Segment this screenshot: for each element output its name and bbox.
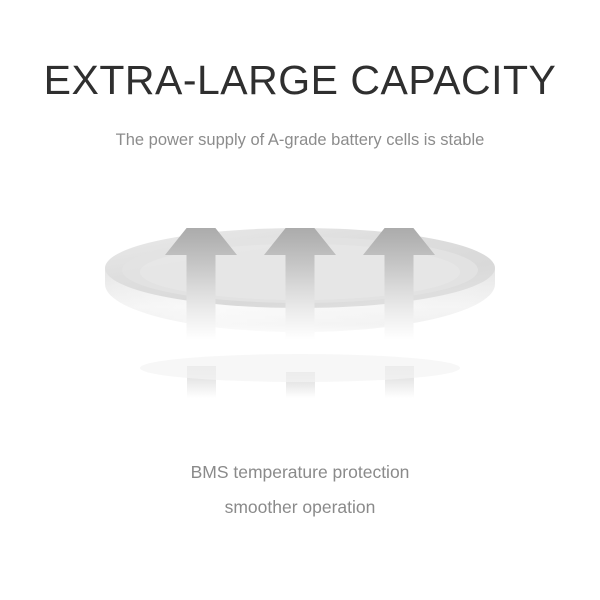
disc-shadow (140, 354, 460, 382)
footer-caption-line-2: smoother operation (0, 490, 600, 525)
page-title: EXTRA-LARGE CAPACITY (0, 58, 600, 103)
page-subtitle: The power supply of A-grade battery cell… (0, 131, 600, 151)
footer-caption: BMS temperature protection smoother oper… (0, 455, 600, 525)
illustration-svg (0, 180, 600, 420)
upward-arrows (165, 210, 435, 340)
footer-caption-line-1: BMS temperature protection (0, 455, 600, 490)
illustration-battery-disc (0, 180, 600, 420)
promo-poster: EXTRA-LARGE CAPACITY The power supply of… (0, 0, 600, 600)
